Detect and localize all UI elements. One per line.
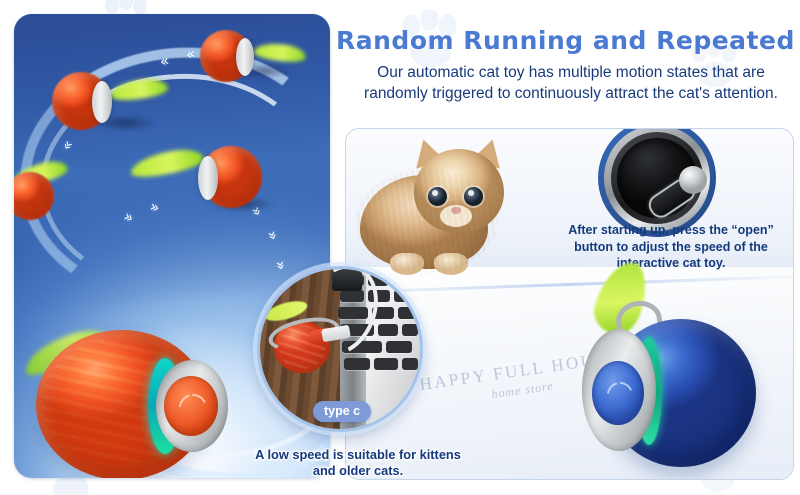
product-infographic: « « « « « » » » » »: [0, 0, 800, 495]
toy-ball-hero: [36, 330, 226, 478]
kitten-photo: [356, 135, 536, 275]
power-button-icon: [592, 361, 644, 425]
toy-ball-motion: [200, 30, 296, 86]
open-button-icon: [679, 166, 707, 194]
speed-callout-text: After starting up, press the “open” butt…: [556, 222, 786, 272]
type-c-badge: type c: [313, 401, 371, 422]
power-button-icon: [164, 376, 218, 436]
blue-toy-ball: [582, 307, 774, 477]
toy-ball-motion: [52, 72, 162, 136]
bottom-caption: A low speed is suitable for kittens and …: [243, 447, 473, 480]
toy-ball-motion: [14, 164, 102, 224]
page-subtitle: Our automatic cat toy has multiple motio…: [346, 63, 796, 104]
dial-face: [617, 138, 697, 218]
page-title: Random Running and Repeated Pulling: [336, 26, 796, 55]
toy-ball-motion: [162, 146, 282, 218]
